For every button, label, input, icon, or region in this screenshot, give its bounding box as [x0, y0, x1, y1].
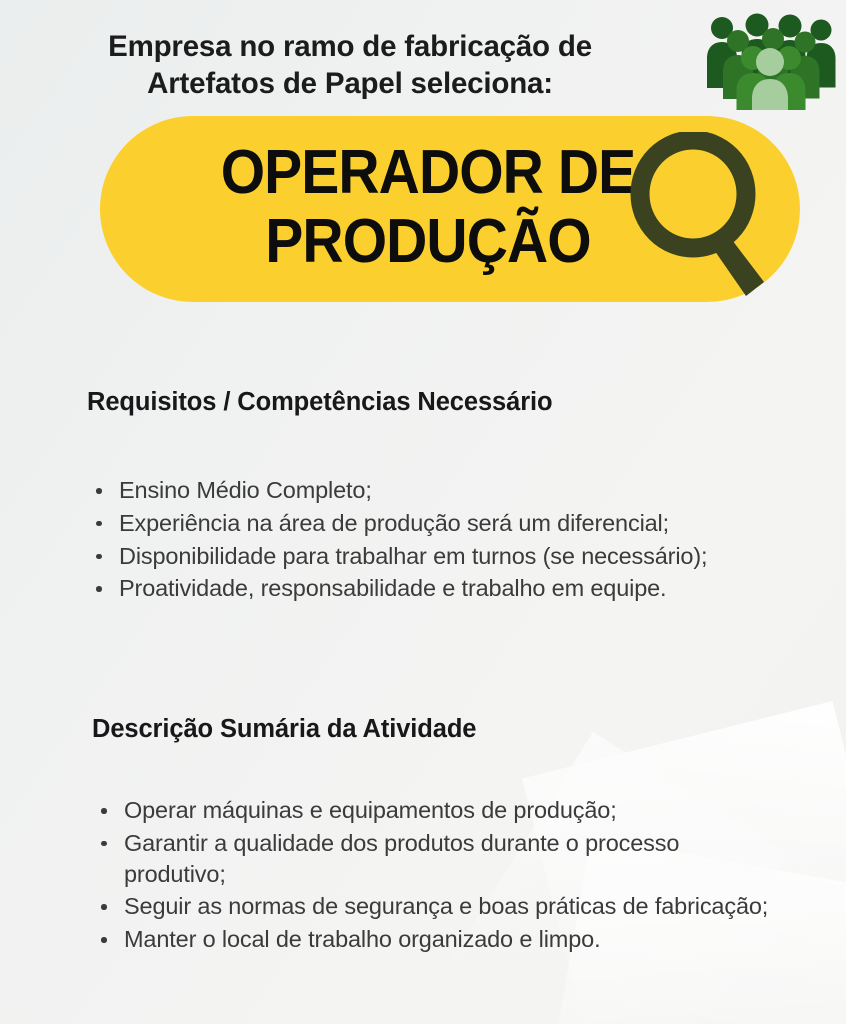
- header-line-2: Artefatos de Papel seleciona:: [0, 65, 700, 102]
- job-posting-poster: Empresa no ramo de fabricação de Artefat…: [0, 0, 846, 1024]
- list-item: Ensino Médio Completo;: [92, 475, 772, 506]
- list-item: Seguir as normas de segurança e boas prá…: [97, 891, 777, 922]
- section-heading-requisitos: Requisitos / Competências Necessário: [87, 388, 553, 417]
- list-item: Operar máquinas e equipamentos de produç…: [97, 795, 777, 826]
- requisitos-list: Ensino Médio Completo; Experiência na ár…: [92, 475, 772, 606]
- list-item: Disponibilidade para trabalhar em turnos…: [92, 541, 772, 572]
- list-item: Proatividade, responsabilidade e trabalh…: [92, 573, 772, 604]
- people-group-icon: [697, 6, 839, 110]
- job-title-line-1: OPERADOR DE: [170, 138, 685, 207]
- header-block: Empresa no ramo de fabricação de Artefat…: [0, 28, 700, 102]
- job-title-line-2: PRODUÇÃO: [170, 207, 685, 276]
- list-item: Experiência na área de produção será um …: [92, 508, 772, 539]
- job-title: OPERADOR DE PRODUÇÃO: [170, 138, 685, 277]
- atividades-list: Operar máquinas e equipamentos de produç…: [97, 795, 777, 957]
- section-heading-descricao: Descrição Sumária da Atividade: [92, 715, 476, 744]
- header-line-1: Empresa no ramo de fabricação de: [0, 28, 700, 65]
- magnifying-glass-icon: [620, 132, 796, 300]
- list-item: Garantir a qualidade dos produtos durant…: [97, 828, 777, 890]
- list-item: Manter o local de trabalho organizado e …: [97, 924, 777, 955]
